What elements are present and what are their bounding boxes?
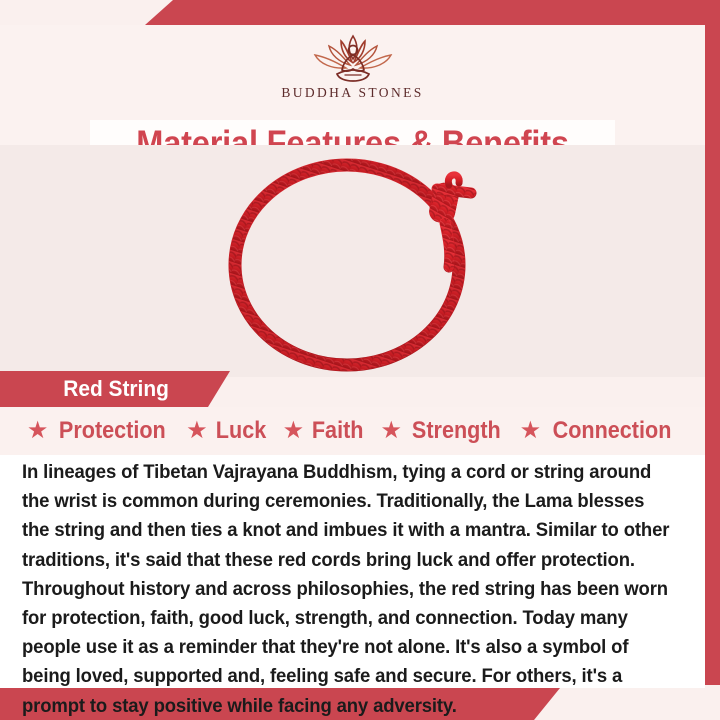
feature-label: Strength (412, 417, 501, 445)
red-braided-string-bracelet-image (205, 149, 505, 374)
feature-list: ★ Protection ★ Luck ★ Faith ★ Strength ★… (0, 407, 705, 455)
top-red-bar (145, 0, 720, 25)
star-icon: ★ (186, 419, 208, 443)
feature-item-connection: ★ Connection (520, 417, 679, 445)
feature-label: Luck (215, 417, 265, 445)
material-name-label: Red String (4, 376, 169, 402)
right-red-bar (705, 25, 720, 685)
star-icon: ★ (283, 419, 305, 443)
product-image-panel (0, 145, 705, 377)
brand-name: BUDDHA STONES (281, 85, 423, 101)
star-icon: ★ (380, 419, 402, 443)
star-icon: ★ (520, 419, 542, 443)
feature-label: Connection (553, 417, 672, 445)
feature-item-faith: ★ Faith (283, 417, 367, 445)
description-text: In lineages of Tibetan Vajrayana Buddhis… (22, 458, 670, 720)
material-name-ribbon: Red String (0, 371, 230, 407)
feature-label: Protection (59, 417, 166, 445)
feature-item-protection: ★ Protection (27, 417, 172, 445)
feature-item-luck: ★ Luck (186, 417, 269, 445)
feature-label: Faith (312, 417, 364, 445)
infographic-page: BUDDHA STONES Material Features & Benefi… (0, 0, 720, 720)
feature-item-strength: ★ Strength (380, 417, 505, 445)
description-panel: In lineages of Tibetan Vajrayana Buddhis… (0, 455, 705, 688)
brand-logo: BUDDHA STONES (0, 31, 705, 101)
header-region: BUDDHA STONES Material Features & Benefi… (0, 25, 705, 145)
lotus-meditation-figure-icon (293, 31, 413, 83)
star-icon: ★ (27, 419, 49, 443)
